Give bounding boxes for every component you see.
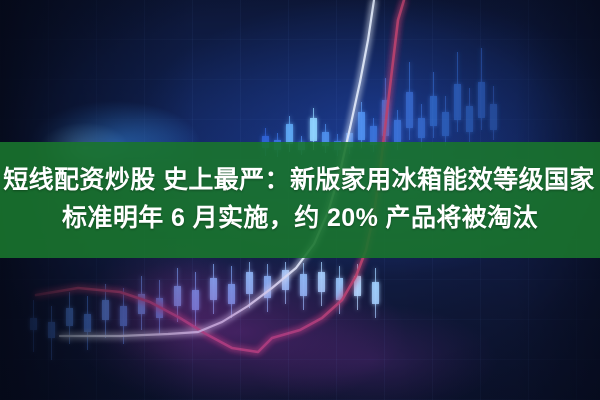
- promo-banner-image: 短线配资炒股 史上最严：新版家用冰箱能效等级国家 标准明年 6 月实施，约 20…: [0, 0, 600, 400]
- candles-upper-panel: [262, 48, 497, 157]
- candles-lower-panel: [30, 262, 379, 360]
- headline-line-1: 短线配资炒股 史上最严：新版家用冰箱能效等级国家: [0, 161, 600, 199]
- headline-line-2: 标准明年 6 月实施，约 20% 产品将被淘汰: [62, 199, 538, 237]
- headline-banner: 短线配资炒股 史上最严：新版家用冰箱能效等级国家 标准明年 6 月实施，约 20…: [0, 142, 600, 258]
